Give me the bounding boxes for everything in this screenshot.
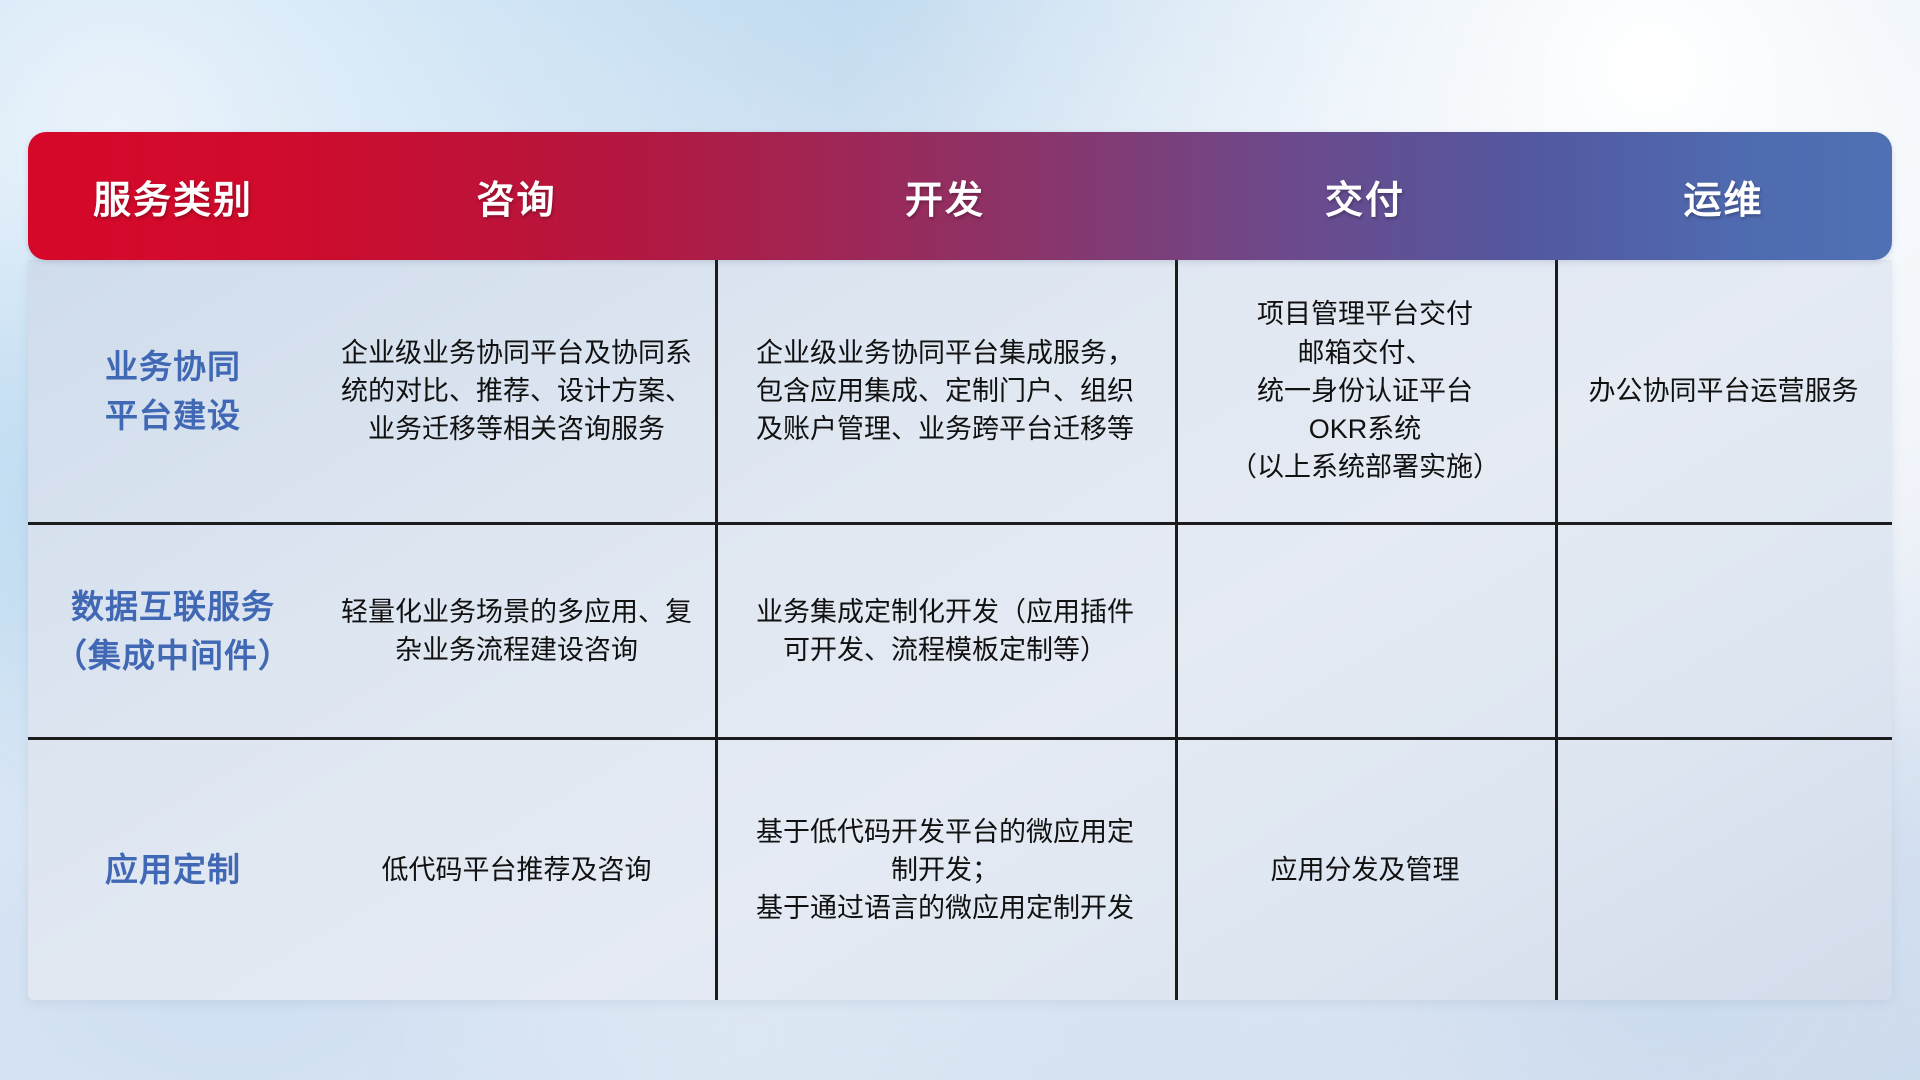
table-row: 应用定制 低代码平台推荐及咨询 基于低代码开发平台的微应用定 制开发； 基于通过… xyxy=(28,740,1892,1000)
cell-consulting-row2: 轻量化业务场景的多应用、复 杂业务流程建设咨询 xyxy=(318,525,715,737)
column-header-category: 服务类别 xyxy=(28,132,318,260)
column-header-delivery: 交付 xyxy=(1175,132,1555,260)
cell-delivery-row1: 项目管理平台交付 邮箱交付、 统一身份认证平台 OKR系统 （以上系统部署实施） xyxy=(1175,260,1555,522)
column-header-consulting: 咨询 xyxy=(318,132,715,260)
table-row: 业务协同 平台建设 企业级业务协同平台及协同系 统的对比、推荐、设计方案、 业务… xyxy=(28,260,1892,525)
cell-consulting-row3: 低代码平台推荐及咨询 xyxy=(318,740,715,1000)
table-row: 数据互联服务 （集成中间件） 轻量化业务场景的多应用、复 杂业务流程建设咨询 业… xyxy=(28,525,1892,740)
service-category-table: 服务类别 咨询 开发 交付 运维 业务协同 平台建设 企业级业务协同平台及协同系… xyxy=(28,132,1892,1000)
cell-delivery-row2 xyxy=(1175,525,1555,737)
cell-operations-row1: 办公协同平台运营服务 xyxy=(1555,260,1892,522)
cell-development-row3: 基于低代码开发平台的微应用定 制开发； 基于通过语言的微应用定制开发 xyxy=(715,740,1175,1000)
table-header-row: 服务类别 咨询 开发 交付 运维 xyxy=(28,132,1892,260)
cell-development-row2: 业务集成定制化开发（应用插件 可开发、流程模板定制等） xyxy=(715,525,1175,737)
column-header-development: 开发 xyxy=(715,132,1175,260)
cell-consulting-row1: 企业级业务协同平台及协同系 统的对比、推荐、设计方案、 业务迁移等相关咨询服务 xyxy=(318,260,715,522)
column-header-operations: 运维 xyxy=(1555,132,1892,260)
cell-operations-row2 xyxy=(1555,525,1892,737)
row-label-business-collaboration: 业务协同 平台建设 xyxy=(28,260,318,522)
table-body: 业务协同 平台建设 企业级业务协同平台及协同系 统的对比、推荐、设计方案、 业务… xyxy=(28,260,1892,1000)
cell-development-row1: 企业级业务协同平台集成服务， 包含应用集成、定制门户、组织 及账户管理、业务跨平… xyxy=(715,260,1175,522)
row-label-app-customization: 应用定制 xyxy=(28,740,318,1000)
row-label-data-interconnect: 数据互联服务 （集成中间件） xyxy=(28,525,318,737)
cell-operations-row3 xyxy=(1555,740,1892,1000)
cell-delivery-row3: 应用分发及管理 xyxy=(1175,740,1555,1000)
